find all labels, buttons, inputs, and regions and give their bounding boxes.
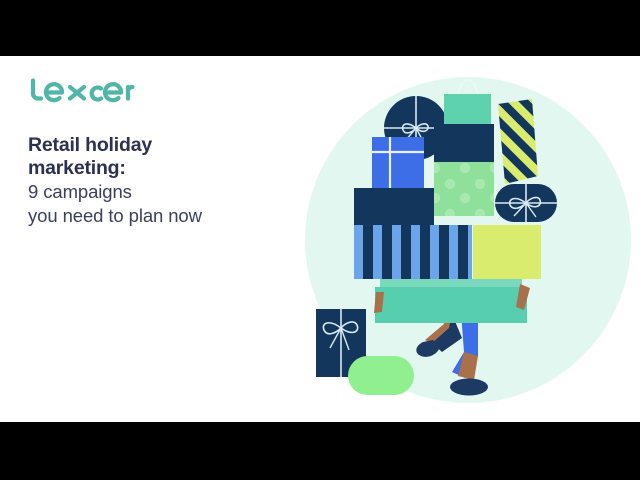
illustration-gift-stack [292, 56, 640, 422]
video-frame: Retail holiday marketing: 9 campaigns yo… [0, 0, 640, 480]
mint-tray [375, 279, 527, 323]
headline-line-1: Retail holiday [28, 134, 308, 157]
page-subtitle: 9 campaigns you need to plan now [28, 180, 308, 228]
navy-flat-box [434, 124, 494, 162]
illustration-svg [292, 56, 640, 422]
green-pill-shape [348, 356, 414, 395]
letterbox-bar-bottom [0, 422, 640, 480]
page-title: Retail holiday marketing: [28, 134, 308, 180]
lexer-logo [28, 76, 138, 106]
navy-oval-gift [495, 184, 557, 222]
headline-line-2: marketing: [28, 157, 308, 180]
diagonal-striped-box [498, 99, 538, 184]
letterbox-bar-top [0, 0, 640, 56]
polka-dot-green-box [434, 162, 494, 216]
subhead-line-2: you need to plan now [28, 204, 308, 228]
vertical-striped-box [354, 225, 472, 279]
blue-ribbon-gift [372, 137, 424, 189]
subhead-line-1: 9 campaigns [28, 180, 308, 204]
lime-box [473, 225, 541, 279]
slide-canvas: Retail holiday marketing: 9 campaigns yo… [0, 56, 640, 422]
navy-side-slab [354, 188, 434, 225]
text-column: Retail holiday marketing: 9 campaigns yo… [28, 76, 308, 228]
